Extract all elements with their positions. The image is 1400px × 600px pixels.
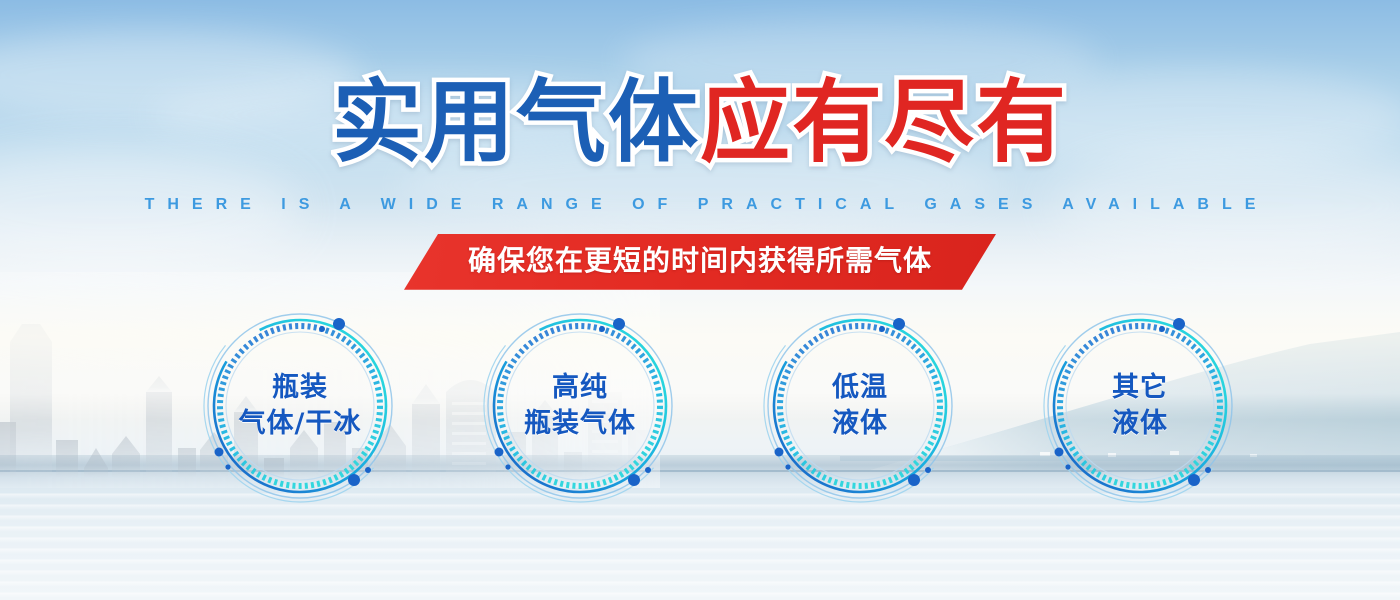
badge-line-1: 高纯 [552,370,608,406]
category-badge-bottled-gas-dry-ice[interactable]: 瓶装 气体/干冰 [206,312,394,500]
category-badge-high-purity-bottled-gas[interactable]: 高纯 瓶装气体 [486,312,674,500]
badge-line-2: 液体 [1112,406,1168,442]
badge-line-1: 其它 [1112,370,1168,406]
category-badge-label: 低温 液体 [766,312,954,500]
subtitle-english: THERE IS A WIDE RANGE OF PRACTICAL GASES… [0,196,1400,214]
headline-blue-segment: 实用气体 [332,70,700,175]
badge-line-1: 低温 [832,370,888,406]
tagline-ribbon: 确保您在更短的时间内获得所需气体 [404,234,996,290]
category-badge-label: 其它 液体 [1046,312,1234,500]
badge-line-2: 气体/干冰 [239,406,362,442]
category-badge-label: 高纯 瓶装气体 [486,312,674,500]
headline: 实用气体应有尽有 [0,78,1400,168]
badge-line-2: 瓶装气体 [524,406,636,442]
badge-line-2: 液体 [832,406,888,442]
promo-banner: 实用气体应有尽有 THERE IS A WIDE RANGE OF PRACTI… [0,0,1400,600]
category-badge-other-liquid[interactable]: 其它 液体 [1046,312,1234,500]
category-badge-row: 瓶装 气体/干冰 [0,312,1400,512]
headline-red-segment: 应有尽有 [700,70,1068,175]
category-badge-label: 瓶装 气体/干冰 [206,312,394,500]
category-badge-cryogenic-liquid[interactable]: 低温 液体 [766,312,954,500]
tagline-ribbon-container: 确保您在更短的时间内获得所需气体 [0,234,1400,290]
badge-line-1: 瓶装 [272,370,328,406]
